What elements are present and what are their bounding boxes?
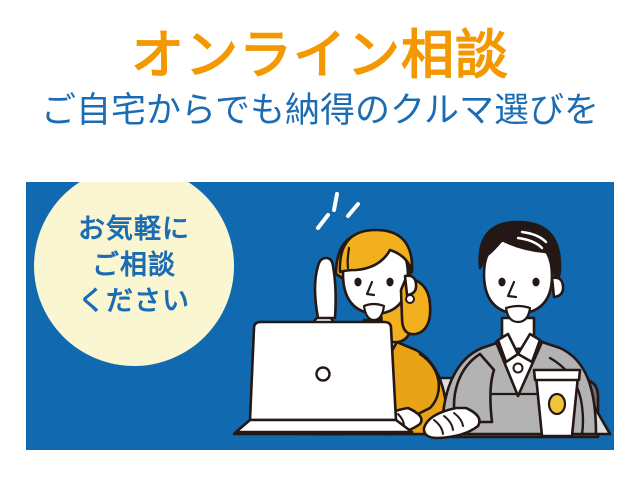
badge-line-3: ください: [78, 284, 190, 320]
online-consultation-banner: オンライン相談 ご自宅からでも納得のクルマ選びを お気軽に ご相談 ください: [0, 0, 640, 480]
illustration-panel: お気軽に ご相談 ください: [26, 182, 614, 450]
banner-subtitle: ご自宅からでも納得のクルマ選びを: [0, 90, 640, 132]
badge-line-2: ご相談: [92, 248, 176, 284]
sparkle-icon: [318, 194, 358, 228]
banner-title: オンライン相談: [0, 26, 640, 86]
banner-heading: オンライン相談 ご自宅からでも納得のクルマ選びを: [0, 26, 640, 132]
consultation-illustration: [206, 182, 614, 450]
laptop-shape: [236, 322, 412, 432]
coffee-cup-shape: [534, 370, 580, 436]
consultation-badge: お気軽に ご相談 ください: [34, 182, 234, 366]
badge-line-1: お気軽に: [78, 212, 190, 248]
